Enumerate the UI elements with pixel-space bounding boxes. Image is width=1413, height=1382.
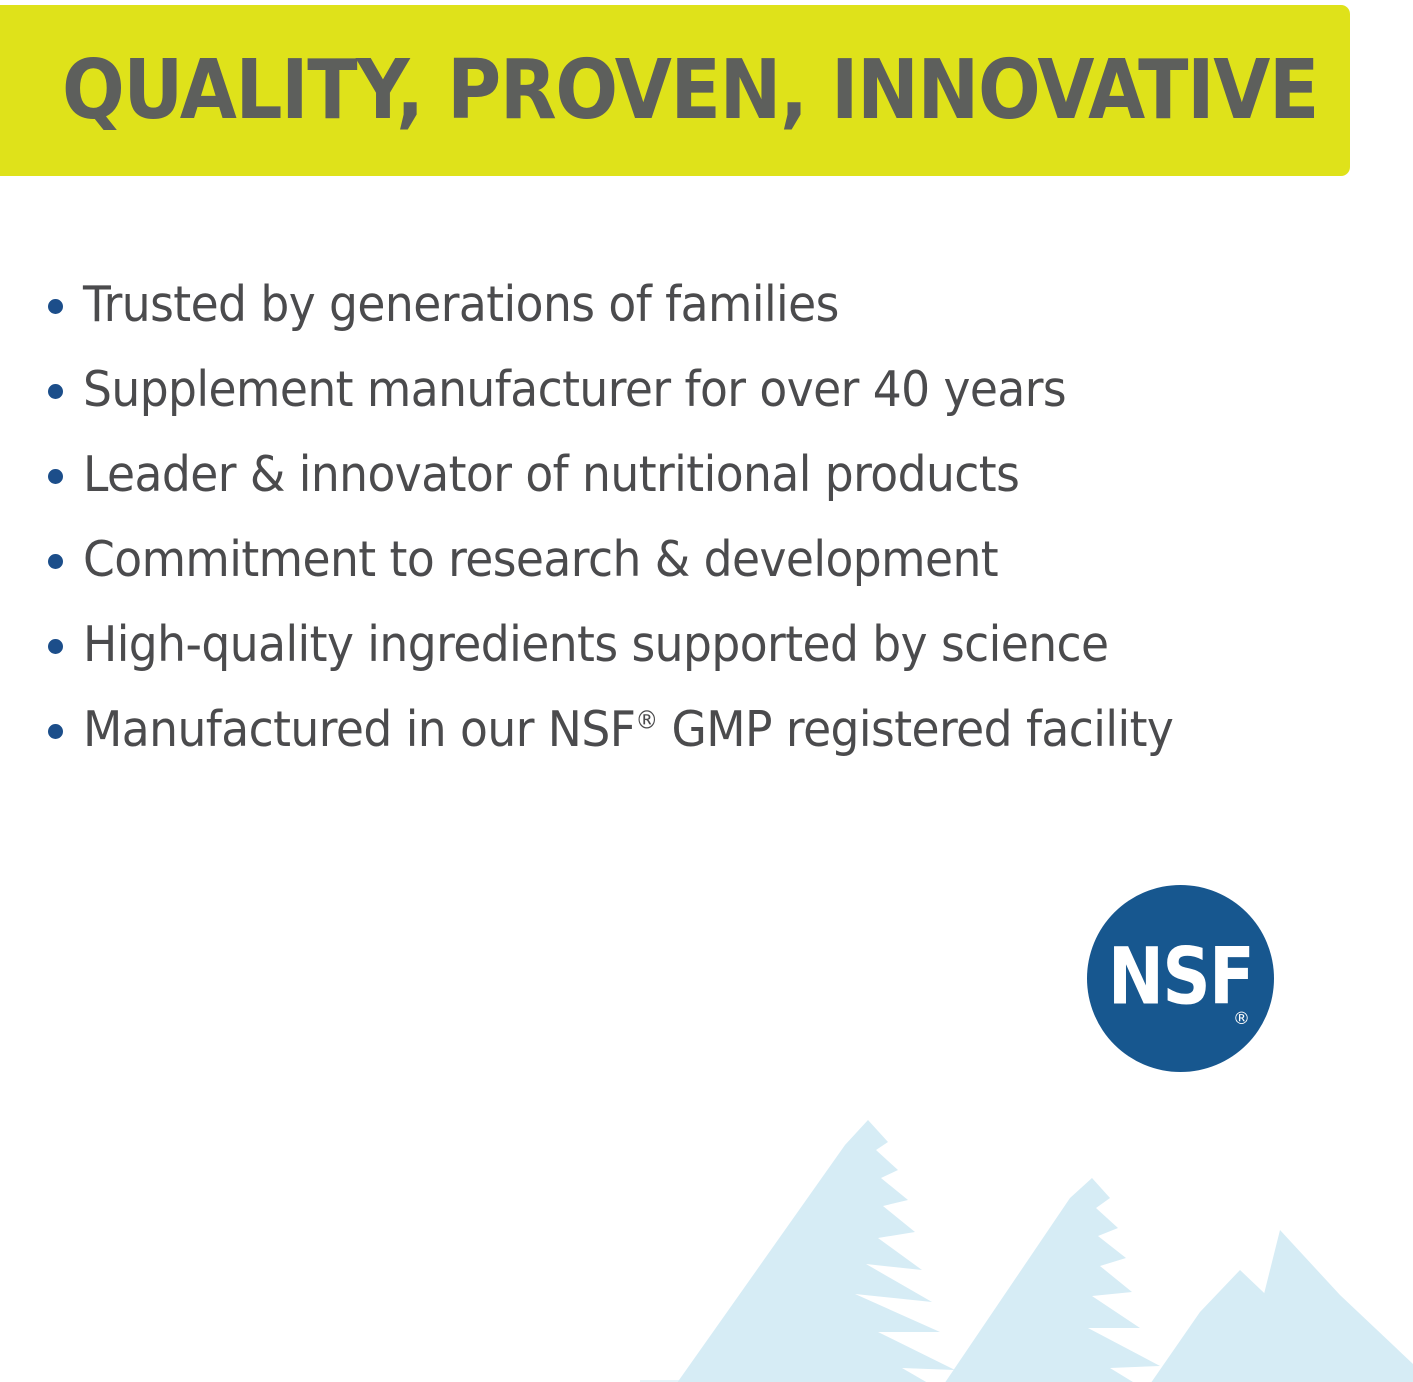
- nsf-logo-letters: NSF: [1100, 938, 1261, 1016]
- page-title: QUALITY, PROVEN, INNOVATIVE: [62, 50, 1318, 132]
- list-item: High-quality ingredients supported by sc…: [48, 602, 1348, 687]
- list-item-label: Leader & innovator of nutritional produc…: [83, 449, 1019, 500]
- bullet-dot-icon: [48, 639, 63, 654]
- bullet-dot-icon: [48, 384, 63, 399]
- list-item-label-part-after: GMP registered facility: [658, 701, 1174, 758]
- list-item-label: High-quality ingredients supported by sc…: [83, 619, 1109, 670]
- bullet-dot-icon: [48, 554, 63, 569]
- list-item: Leader & innovator of nutritional produc…: [48, 432, 1348, 517]
- nsf-logo: NSF ®: [1087, 885, 1274, 1072]
- feature-bullet-list: Trusted by generations of families Suppl…: [48, 262, 1348, 772]
- header-banner: QUALITY, PROVEN, INNOVATIVE: [0, 5, 1350, 176]
- list-item: Commitment to research & development: [48, 517, 1348, 602]
- list-item-label: Trusted by generations of families: [83, 279, 839, 330]
- list-item: Manufactured in our NSF® GMP registered …: [48, 687, 1348, 772]
- infographic-canvas: QUALITY, PROVEN, INNOVATIVE Trusted by g…: [0, 0, 1413, 1382]
- bullet-dot-icon: [48, 724, 63, 739]
- list-item-label-part-before: Manufactured in our NSF: [83, 701, 635, 758]
- list-item-label: Manufactured in our NSF® GMP registered …: [83, 704, 1173, 755]
- list-item: Trusted by generations of families: [48, 262, 1348, 347]
- list-item-label: Supplement manufacturer for over 40 year…: [83, 364, 1066, 415]
- list-item-label: Commitment to research & development: [83, 534, 998, 585]
- mountain-watermark-icon: [640, 1080, 1413, 1382]
- nsf-registered-mark: ®: [1233, 1011, 1250, 1028]
- bullet-dot-icon: [48, 299, 63, 314]
- list-item: Supplement manufacturer for over 40 year…: [48, 347, 1348, 432]
- registered-trademark-mark: ®: [635, 705, 657, 734]
- bullet-dot-icon: [48, 469, 63, 484]
